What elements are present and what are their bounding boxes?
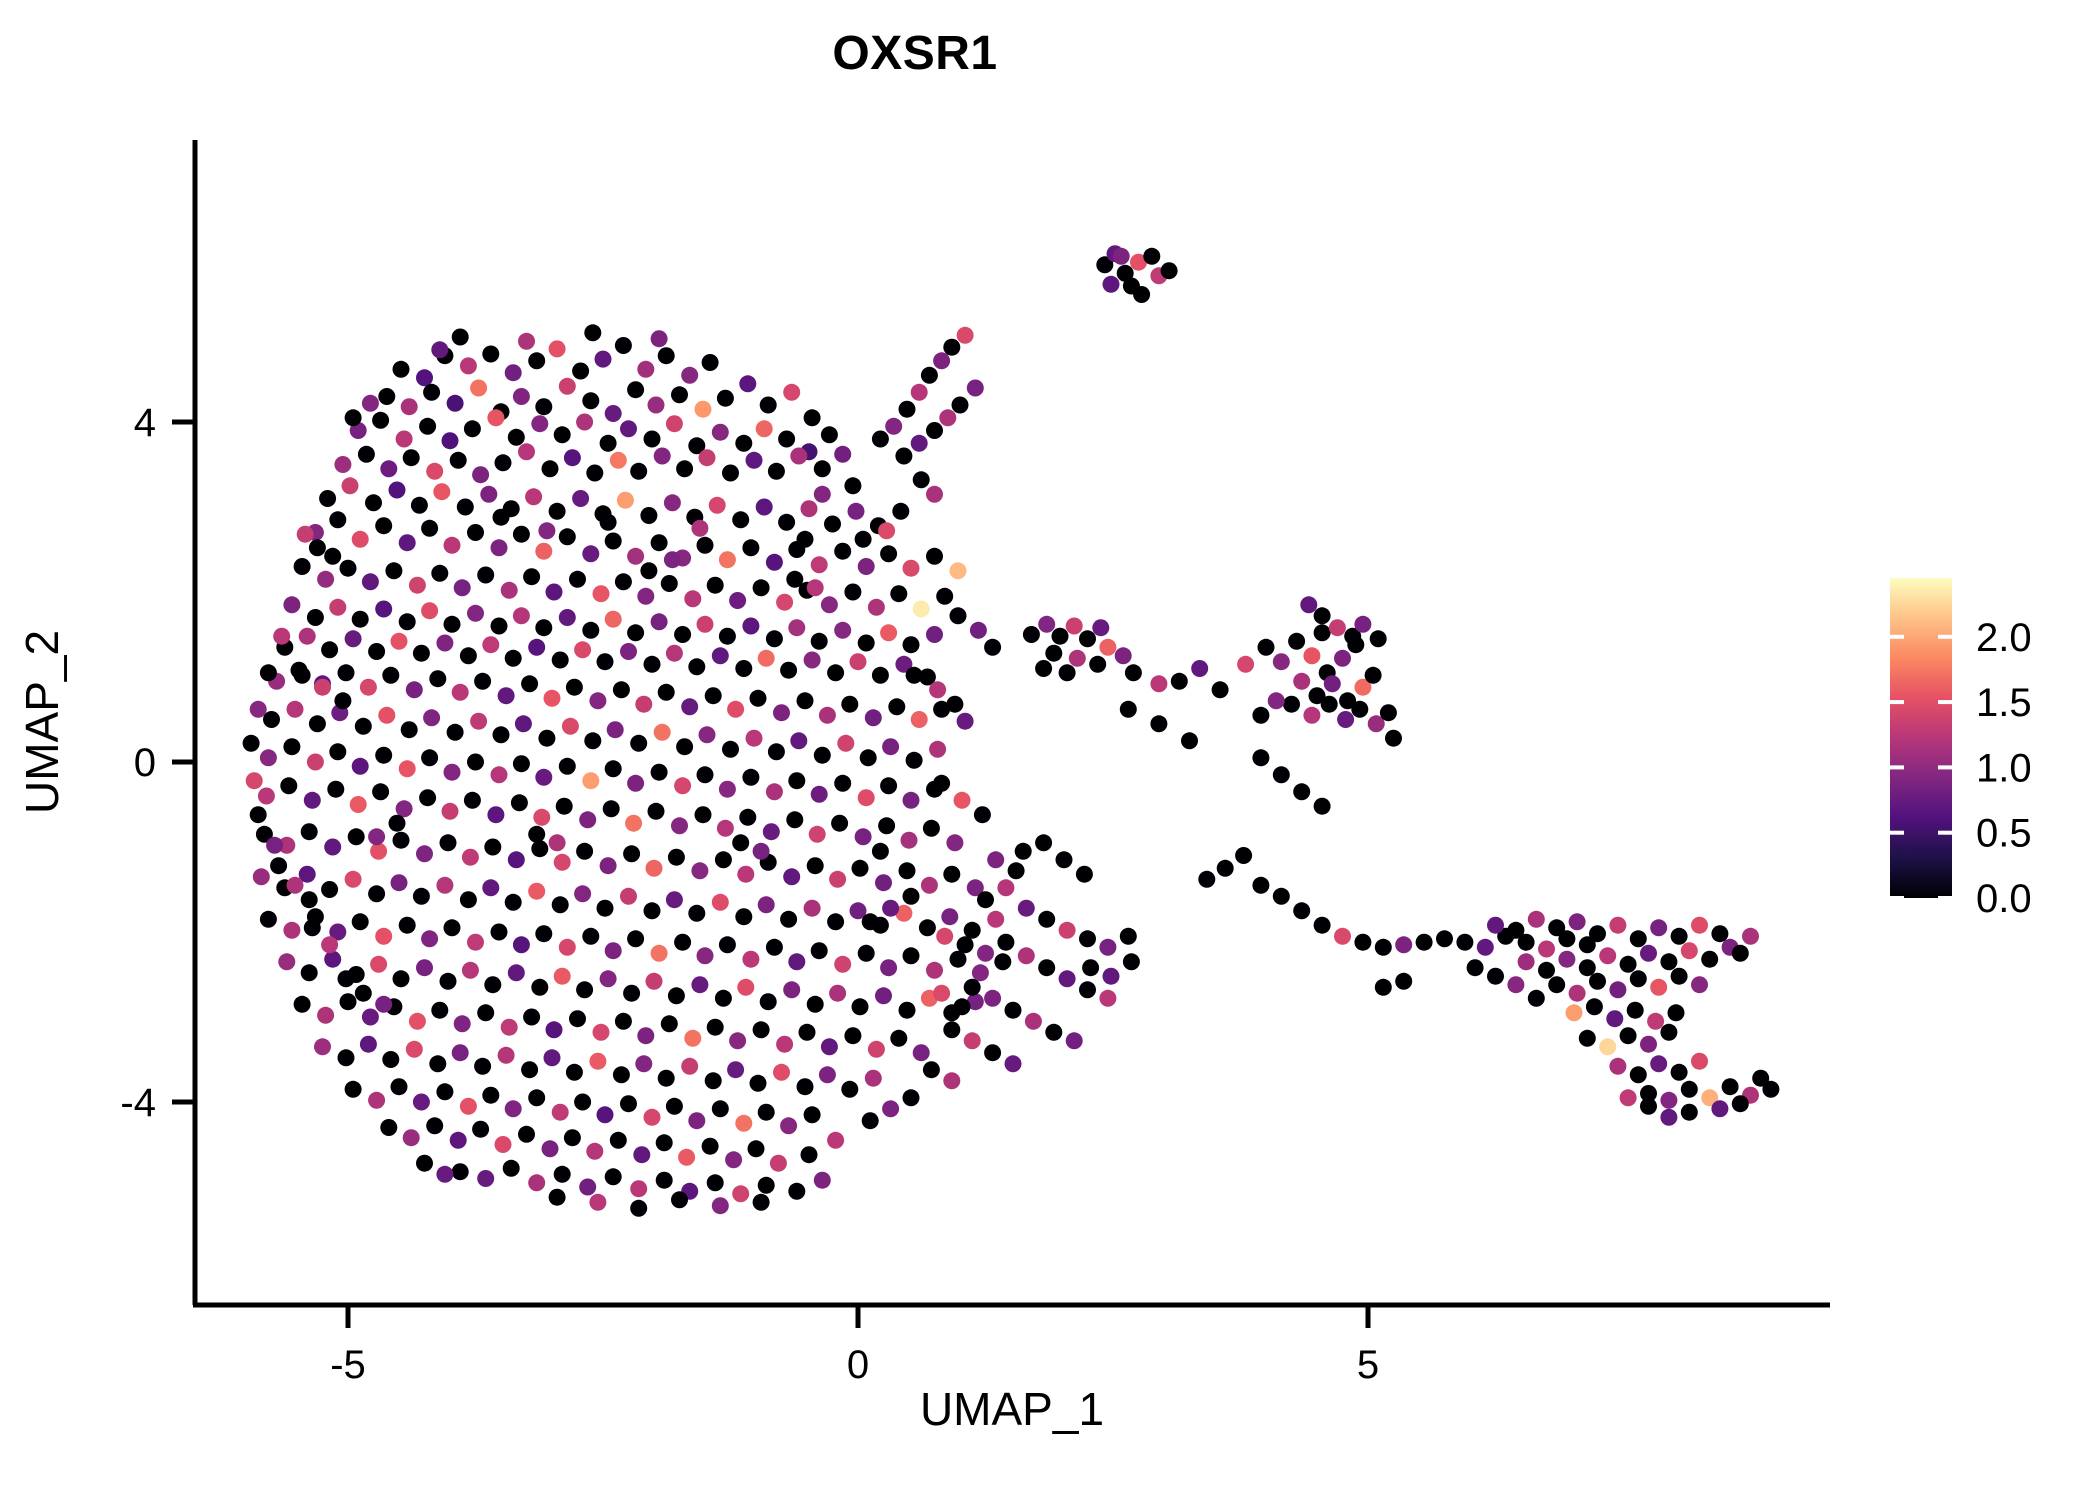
scatter-point: [644, 431, 661, 448]
scatter-point: [470, 380, 487, 397]
scatter-point: [554, 854, 571, 871]
scatter-point: [911, 435, 928, 452]
scatter-point: [525, 488, 542, 505]
scatter-point: [535, 398, 552, 415]
scatter-point: [270, 857, 287, 874]
scatter-point: [997, 879, 1014, 896]
scatter-point: [797, 531, 814, 548]
scatter-point: [375, 601, 392, 618]
scatter-point: [691, 862, 708, 879]
scatter-point: [697, 947, 714, 964]
scatter-point: [753, 1194, 770, 1211]
scatter-point: [607, 721, 624, 738]
scatter-point: [1273, 653, 1290, 670]
scatter-point: [651, 945, 668, 962]
scatter-point: [319, 490, 336, 507]
scatter-point: [1334, 928, 1351, 945]
scatter-point: [648, 803, 665, 820]
scatter-point: [646, 860, 663, 877]
scatter-point: [283, 738, 300, 755]
scatter-point: [355, 718, 372, 735]
scatter-point: [623, 845, 640, 862]
scatter-point: [804, 900, 821, 917]
scatter-point: [421, 749, 438, 766]
scatter-point: [554, 426, 571, 443]
scatter-point: [1018, 900, 1035, 917]
scatter-point: [368, 1092, 385, 1109]
scatter-point: [1691, 976, 1708, 993]
scatter-point: [1380, 704, 1397, 721]
scatter-point: [797, 692, 814, 709]
scatter-point: [309, 539, 326, 556]
scatter-point: [576, 843, 593, 860]
scatter-point: [582, 545, 599, 562]
scatter-point: [954, 998, 971, 1015]
scatter-point: [258, 788, 275, 805]
scatter-point: [804, 1106, 821, 1123]
scatter-point: [903, 947, 920, 964]
scatter-point: [780, 662, 797, 679]
scatter-point: [355, 985, 372, 1002]
scatter-point: [892, 503, 909, 520]
scatter-point: [321, 936, 338, 953]
scatter-point: [1143, 248, 1160, 265]
scatter-point: [804, 652, 821, 669]
scatter-point: [1640, 1098, 1657, 1115]
scatter-point: [681, 1058, 698, 1075]
scatter-point: [640, 507, 657, 524]
scatter-point: [579, 811, 596, 828]
scatter-point: [880, 624, 897, 641]
scatter-point: [352, 913, 369, 930]
scatter-point: [280, 777, 297, 794]
scatter-point: [1038, 959, 1055, 976]
scatter-point: [735, 660, 752, 677]
scatter-point: [1681, 1104, 1698, 1121]
scatter-point: [421, 520, 438, 537]
scatter-point: [562, 718, 579, 735]
scatter-point: [732, 511, 749, 528]
scatter-point: [819, 707, 836, 724]
scatter-point: [735, 1115, 752, 1132]
scatter-point: [658, 1070, 675, 1087]
scatter-point: [858, 558, 875, 575]
scatter-point: [987, 851, 1004, 868]
scatter-point: [811, 633, 828, 650]
scatter-point: [372, 783, 389, 800]
scatter-point: [360, 1036, 377, 1053]
scatter-point: [681, 698, 698, 715]
scatter-point: [538, 730, 555, 747]
scatter-point: [1314, 917, 1331, 934]
scatter-point: [1076, 866, 1093, 883]
scatter-point: [1212, 681, 1229, 698]
scatter-point: [1237, 656, 1254, 673]
scatter-point: [250, 701, 267, 718]
scatter-point: [1722, 1078, 1739, 1095]
scatter-point: [666, 415, 683, 432]
scatter-point: [393, 361, 410, 378]
scatter-point: [317, 571, 334, 588]
scatter-point: [1038, 616, 1055, 633]
scatter-point: [572, 363, 589, 380]
scatter-point: [523, 568, 540, 585]
scatter-point: [1258, 639, 1275, 656]
scatter-point: [1620, 1027, 1637, 1044]
scatter-point: [304, 792, 321, 809]
scatter-point: [868, 1041, 885, 1058]
scatter-point: [753, 1021, 770, 1038]
scatter-point: [1385, 730, 1402, 747]
scatter-point: [882, 1100, 899, 1117]
scatter-point: [923, 820, 940, 837]
scatter-point: [1066, 618, 1083, 635]
scatter-point: [756, 420, 773, 437]
scatter-point: [375, 517, 392, 534]
scatter-point: [1620, 956, 1637, 973]
scatter-point: [1620, 1089, 1637, 1106]
scatter-point: [464, 420, 481, 437]
scatter-point: [1217, 860, 1234, 877]
scatter-point: [1052, 628, 1069, 645]
scatter-point: [855, 531, 872, 548]
scatter-point: [950, 951, 967, 968]
scatter-point: [549, 1189, 566, 1206]
scatter-point: [987, 911, 1004, 928]
scatter-point: [518, 1126, 535, 1143]
scatter-point: [1650, 919, 1667, 936]
scatter-point: [709, 497, 726, 514]
scatter-point: [921, 367, 938, 384]
scatter-point: [811, 786, 828, 803]
x-tick-label: 0: [847, 1343, 869, 1387]
scatter-point: [644, 656, 661, 673]
scatter-point: [984, 990, 1001, 1007]
scatter-point: [452, 1044, 469, 1061]
scatter-point: [858, 789, 875, 806]
scatter-point: [936, 588, 953, 605]
scatter-point: [1235, 847, 1252, 864]
scatter-point: [589, 1053, 606, 1070]
scatter-point: [1370, 630, 1387, 647]
scatter-point: [926, 422, 943, 439]
scatter-point: [957, 936, 974, 953]
scatter-point: [648, 397, 665, 414]
scatter-point: [780, 1117, 797, 1134]
scatter-point: [834, 543, 851, 560]
scatter-point: [1351, 701, 1368, 718]
scatter-point: [697, 766, 714, 783]
scatter-point: [735, 435, 752, 452]
scatter-point: [671, 386, 688, 403]
scatter-point: [546, 1021, 563, 1038]
scatter-point: [301, 964, 318, 981]
scatter-point: [391, 874, 408, 891]
scatter-point: [674, 777, 691, 794]
scatter-point: [903, 636, 920, 653]
scatter-point: [447, 395, 464, 412]
scatter-point: [640, 562, 657, 579]
scatter-point: [429, 1055, 446, 1072]
scatter-point: [564, 1129, 581, 1146]
scatter-point: [722, 741, 739, 758]
scatter-point: [605, 533, 622, 550]
scatter-point: [273, 628, 290, 645]
scatter-point: [518, 443, 535, 460]
scatter-point: [582, 772, 599, 789]
scatter-point: [426, 463, 443, 480]
scatter-point: [630, 735, 647, 752]
scatter-point: [582, 622, 599, 639]
scatter-point: [348, 828, 365, 845]
scatter-point: [654, 448, 671, 465]
scatter-point: [821, 1038, 838, 1055]
scatter-point: [1558, 951, 1575, 968]
scatter-point: [885, 418, 902, 435]
scatter-point: [852, 998, 869, 1015]
scatter-point: [595, 351, 612, 368]
scatter-point: [552, 896, 569, 913]
scatter-point: [964, 922, 981, 939]
scatter-point: [712, 894, 729, 911]
colorbar-tick-label: 1.0: [1976, 746, 2032, 790]
scatter-point: [773, 1064, 790, 1081]
scatter-point: [528, 1174, 545, 1191]
scatter-point: [442, 432, 459, 449]
scatter-point: [715, 851, 732, 868]
scatter-point: [505, 894, 522, 911]
scatter-point: [368, 828, 385, 845]
scatter-point: [352, 531, 369, 548]
scatter-point: [684, 1030, 701, 1047]
scatter-point: [834, 446, 851, 463]
scatter-point: [542, 1140, 559, 1157]
scatter-point: [1079, 981, 1096, 998]
scatter-point: [431, 565, 448, 582]
scatter-point: [467, 605, 484, 622]
scatter-point: [1314, 607, 1331, 624]
scatter-point: [901, 832, 918, 849]
scatter-point: [1691, 917, 1708, 934]
scatter-point: [484, 976, 501, 993]
scatter-point: [1252, 749, 1269, 766]
scatter-point: [531, 840, 548, 857]
scatter-point: [936, 928, 953, 945]
scatter-point: [314, 679, 331, 696]
scatter-point: [644, 902, 661, 919]
scatter-point: [477, 567, 494, 584]
scatter-point: [350, 796, 367, 813]
scatter-point: [454, 579, 471, 596]
scatter-point: [413, 888, 430, 905]
scatter-point: [589, 1194, 606, 1211]
scatter-point: [535, 925, 552, 942]
scatter-point: [1671, 1064, 1688, 1081]
scatter-point: [1548, 919, 1565, 936]
scatter-point: [732, 1185, 749, 1202]
scatter-point: [385, 562, 402, 579]
scatter-point: [372, 412, 389, 429]
x-tick-label: 5: [1357, 1343, 1379, 1387]
scatter-point: [911, 384, 928, 401]
scatter-point: [1569, 985, 1586, 1002]
scatter-point: [513, 526, 530, 543]
scatter-point: [697, 537, 714, 554]
scatter-point: [368, 885, 385, 902]
scatter-point: [1125, 664, 1142, 681]
scatter-point: [480, 486, 497, 503]
scatter-point: [715, 990, 732, 1007]
scatter-point: [370, 843, 387, 860]
scatter-point: [399, 534, 416, 551]
scatter-point: [531, 979, 548, 996]
scatter-point: [872, 431, 889, 448]
scatter-point: [401, 721, 418, 738]
scatter-point: [329, 511, 346, 528]
scatter-point: [1630, 970, 1647, 987]
scatter-point: [627, 624, 644, 641]
scatter-point: [946, 696, 963, 713]
scatter-point: [586, 465, 603, 482]
scatter-point: [623, 985, 640, 1002]
x-axis-title: UMAP_1: [920, 1383, 1104, 1435]
scatter-point: [556, 798, 573, 815]
scatter-point: [1538, 962, 1555, 979]
scatter-point: [778, 431, 795, 448]
scatter-point: [498, 687, 515, 704]
scatter-point: [559, 939, 576, 956]
scatter-point: [943, 339, 960, 356]
scatter-point: [613, 1066, 630, 1083]
scatter-point: [1518, 953, 1535, 970]
scatter-point: [737, 866, 754, 883]
scatter-point: [411, 497, 428, 514]
scatter-point: [436, 1166, 453, 1183]
scatter-point: [1171, 673, 1188, 690]
scatter-point: [911, 711, 928, 728]
scatter-point: [605, 942, 622, 959]
scatter-point: [712, 1100, 729, 1117]
scatter-point: [597, 900, 614, 917]
scatter-point: [888, 698, 905, 715]
scatter-point: [442, 803, 459, 820]
scatter-point: [426, 1117, 443, 1134]
scatter-point: [1089, 656, 1106, 673]
scatter-point: [1268, 692, 1285, 709]
scatter-point: [797, 1078, 814, 1095]
scatter-point: [1324, 675, 1341, 692]
scatter-point: [882, 738, 899, 755]
scatter-point: [1293, 783, 1310, 800]
scatter-point: [719, 551, 736, 568]
scatter-point: [528, 1089, 545, 1106]
scatter-point: [431, 1002, 448, 1019]
scatter-point: [977, 945, 994, 962]
scatter-point: [370, 956, 387, 973]
scatter-point: [620, 643, 637, 660]
scatter-point: [1354, 616, 1371, 633]
scatter-point: [391, 1078, 408, 1095]
scatter-point: [651, 330, 668, 347]
scatter-point: [1599, 1038, 1616, 1055]
scatter-point: [807, 857, 824, 874]
scatter-point: [1589, 973, 1606, 990]
scatter-point: [831, 815, 848, 832]
scatter-point: [314, 1038, 331, 1055]
scatter-point: [707, 577, 724, 594]
scatter-point: [617, 492, 634, 509]
scatter-point: [501, 582, 518, 599]
scatter-point: [1599, 947, 1616, 964]
scatter-point: [737, 979, 754, 996]
scatter-point: [301, 823, 318, 840]
scatter-point: [1035, 660, 1052, 677]
scatter-point: [880, 545, 897, 562]
scatter-point: [1436, 930, 1453, 947]
scatter-point: [950, 607, 967, 624]
scatter-point: [444, 616, 461, 633]
plot-canvas: -505 -404 UMAP_1 UMAP_2 0.00.51.01.52.0: [0, 0, 2100, 1500]
scatter-point: [1113, 248, 1130, 265]
scatter-point: [921, 877, 938, 894]
scatter-point: [702, 1138, 719, 1155]
scatter-point: [1005, 1002, 1022, 1019]
scatter-point: [929, 681, 946, 698]
scatter-point: [688, 1112, 705, 1129]
colorbar: [1890, 578, 1952, 898]
scatter-point: [1005, 1055, 1022, 1072]
scatter-point: [827, 664, 844, 681]
scatter-point: [933, 985, 950, 1002]
scatter-point: [656, 1134, 673, 1151]
scatter-point: [569, 1010, 586, 1027]
scatter-point: [972, 964, 989, 981]
scatter-point: [329, 743, 346, 760]
scatter-point: [814, 747, 831, 764]
scatter-point: [739, 809, 756, 826]
scatter-point: [396, 431, 413, 448]
scatter-point: [725, 1151, 742, 1168]
scatter-point: [584, 732, 601, 749]
scatter-point: [574, 885, 591, 902]
scatter-point: [1660, 1024, 1677, 1041]
scatter-point: [903, 560, 920, 577]
scatter-point: [760, 397, 777, 414]
scatter-point: [727, 701, 744, 718]
scatter-point: [719, 781, 736, 798]
scatter-point: [1456, 934, 1473, 951]
scatter-point: [676, 738, 693, 755]
scatter-point: [712, 647, 729, 664]
scatter-point: [913, 1044, 930, 1061]
chart-svg: -505 -404 UMAP_1 UMAP_2 0.00.51.01.52.0: [0, 0, 2100, 1500]
scatter-point: [495, 1136, 512, 1153]
scatter-point: [450, 452, 467, 469]
scatter-point: [695, 401, 712, 418]
scatter-point: [334, 692, 351, 709]
scatter-point: [773, 704, 790, 721]
scatter-point: [304, 919, 321, 936]
scatter-point: [676, 460, 693, 477]
scatter-point: [906, 752, 923, 769]
y-tick-label: 0: [134, 741, 156, 785]
scatter-point: [1079, 630, 1096, 647]
scatter-point: [579, 1179, 596, 1196]
scatter-point: [1507, 922, 1524, 939]
scatter-point: [1569, 913, 1586, 930]
scatter-point: [401, 398, 418, 415]
scatter-point: [324, 548, 341, 565]
